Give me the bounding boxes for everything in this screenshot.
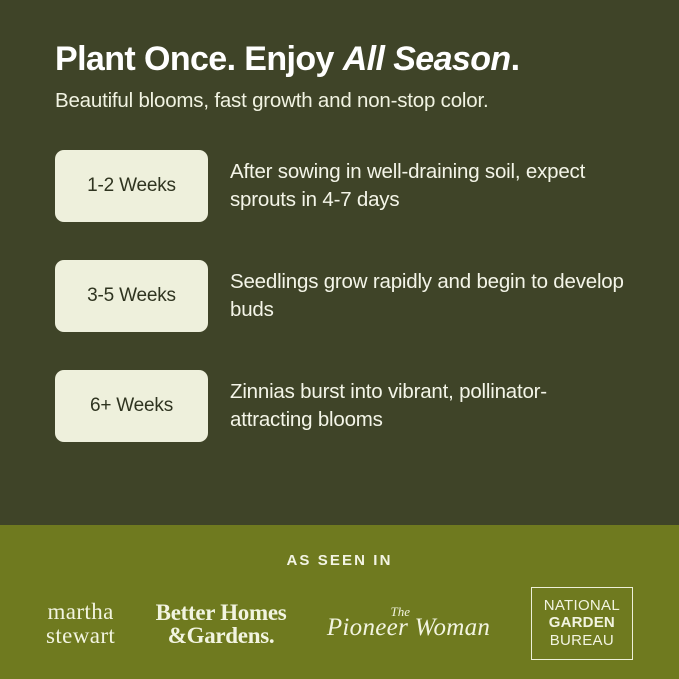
logo-line-2: GARDEN bbox=[549, 614, 615, 631]
promo-poster: Plant Once. Enjoy All Season. Beautiful … bbox=[0, 0, 679, 679]
timeline-badge-3: 6+ Weeks bbox=[55, 370, 208, 442]
logo-line-2: stewart bbox=[46, 624, 115, 648]
timeline-row: 1-2 Weeks After sowing in well-draining … bbox=[55, 150, 624, 222]
logo-martha-stewart: martha stewart bbox=[46, 600, 115, 648]
logo-line-2: &Gardens. bbox=[168, 624, 275, 647]
subtitle: Beautiful blooms, fast growth and non-st… bbox=[55, 78, 624, 114]
logo-better-homes-and-gardens: Better Homes &Gardens. bbox=[156, 601, 287, 647]
badge-label: 3-5 Weeks bbox=[87, 285, 176, 307]
page-title: Plant Once. Enjoy All Season. bbox=[55, 0, 624, 78]
growth-timeline: 1-2 Weeks After sowing in well-draining … bbox=[55, 150, 624, 442]
logo-line-3: BUREAU bbox=[550, 632, 614, 649]
logo-line-1: Better Homes bbox=[156, 601, 287, 624]
timeline-row: 6+ Weeks Zinnias burst into vibrant, pol… bbox=[55, 370, 624, 442]
logo-the-pioneer-woman: The Pioneer Woman bbox=[327, 602, 490, 646]
headline-period: . bbox=[511, 40, 520, 78]
logo-line-1: NATIONAL bbox=[544, 597, 620, 614]
timeline-description: After sowing in well-draining soil, expe… bbox=[230, 158, 624, 213]
timeline-badge-2: 3-5 Weeks bbox=[55, 260, 208, 332]
timeline-row: 3-5 Weeks Seedlings grow rapidly and beg… bbox=[55, 260, 624, 332]
badge-label: 6+ Weeks bbox=[90, 395, 173, 417]
timeline-description: Zinnias burst into vibrant, pollinator-a… bbox=[230, 378, 624, 433]
badge-label: 1-2 Weeks bbox=[87, 175, 176, 197]
timeline-description: Seedlings grow rapidly and begin to deve… bbox=[230, 268, 624, 323]
headline-part-1: Plant Once. Enjoy bbox=[55, 40, 343, 78]
logo-line-1: The bbox=[391, 604, 411, 620]
as-seen-in-heading: AS SEEN IN bbox=[286, 552, 392, 569]
headline-emphasis: All Season bbox=[343, 40, 511, 78]
as-seen-in-band: AS SEEN IN martha stewart Better Homes &… bbox=[0, 525, 679, 679]
logo-national-garden-bureau: NATIONAL GARDEN BUREAU bbox=[531, 587, 633, 660]
timeline-badge-1: 1-2 Weeks bbox=[55, 150, 208, 222]
hero-section: Plant Once. Enjoy All Season. Beautiful … bbox=[0, 0, 679, 525]
logo-line-1: martha bbox=[47, 600, 113, 624]
press-logo-row: martha stewart Better Homes &Gardens. Th… bbox=[0, 587, 679, 660]
